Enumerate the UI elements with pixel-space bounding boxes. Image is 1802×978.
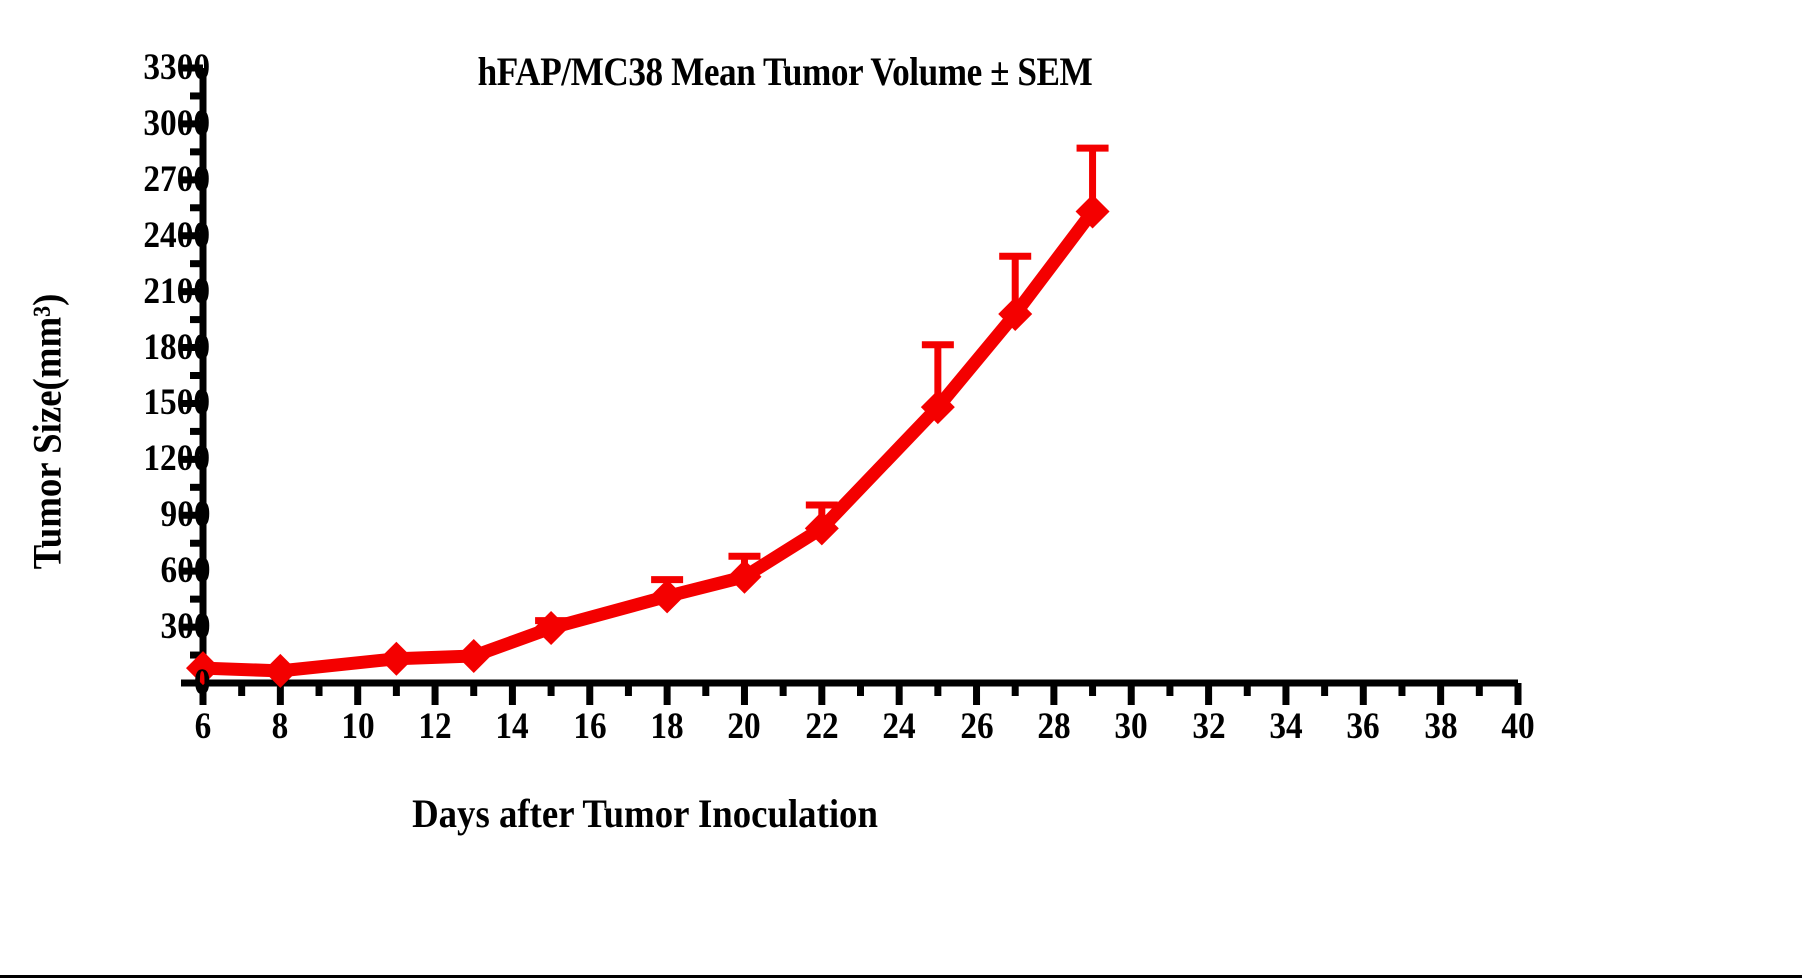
chart-svg (203, 68, 1518, 683)
y-tick-label: 2100 (143, 273, 210, 310)
x-tick-label: 16 (558, 708, 621, 745)
y-tick-label: 1200 (143, 440, 210, 477)
data-point-marker[interactable] (457, 639, 491, 673)
x-tick-label: 30 (1100, 708, 1163, 745)
y-tick-label: 2400 (143, 217, 210, 254)
x-tick-label: 6 (172, 708, 235, 745)
x-tick-label: 18 (636, 708, 699, 745)
x-tick-label: 26 (945, 708, 1008, 745)
y-tick-label: 1500 (143, 384, 210, 421)
y-tick-label: 2700 (143, 161, 210, 198)
data-point-marker[interactable] (534, 611, 568, 645)
y-tick-label: 1800 (143, 329, 210, 366)
x-tick-label: 22 (790, 708, 853, 745)
x-tick-label: 28 (1022, 708, 1085, 745)
y-tick-label: 300 (160, 608, 210, 645)
y-tick-label: 900 (160, 496, 210, 533)
figure-canvas: hFAP/MC38 Mean Tumor Volume ± SEM Tumor … (0, 0, 1802, 978)
y-tick-label: 600 (160, 552, 210, 589)
x-tick-label: 12 (404, 708, 467, 745)
x-tick-label: 10 (326, 708, 389, 745)
x-tick-label: 34 (1254, 708, 1317, 745)
x-tick-label: 8 (249, 708, 312, 745)
x-axis-title: Days after Tumor Inoculation (208, 790, 1082, 837)
x-tick-label: 14 (481, 708, 544, 745)
data-point-marker[interactable] (379, 642, 413, 676)
series-line (203, 212, 1093, 671)
x-tick-label: 38 (1409, 708, 1472, 745)
x-tick-label: 36 (1332, 708, 1395, 745)
data-point-marker[interactable] (650, 579, 684, 613)
x-tick-label: 40 (1487, 708, 1550, 745)
data-series (186, 148, 1110, 688)
y-tick-label: 3300 (143, 49, 210, 86)
y-tick-label: 0 (193, 664, 210, 701)
x-tick-label: 32 (1177, 708, 1240, 745)
x-tick-label: 20 (713, 708, 776, 745)
x-tick-label: 24 (868, 708, 931, 745)
plot-area: 0300600900120015001800210024002700300033… (203, 68, 1518, 683)
y-axis-title: Tumor Size(mm³) (24, 234, 71, 630)
y-tick-label: 3000 (143, 105, 210, 142)
